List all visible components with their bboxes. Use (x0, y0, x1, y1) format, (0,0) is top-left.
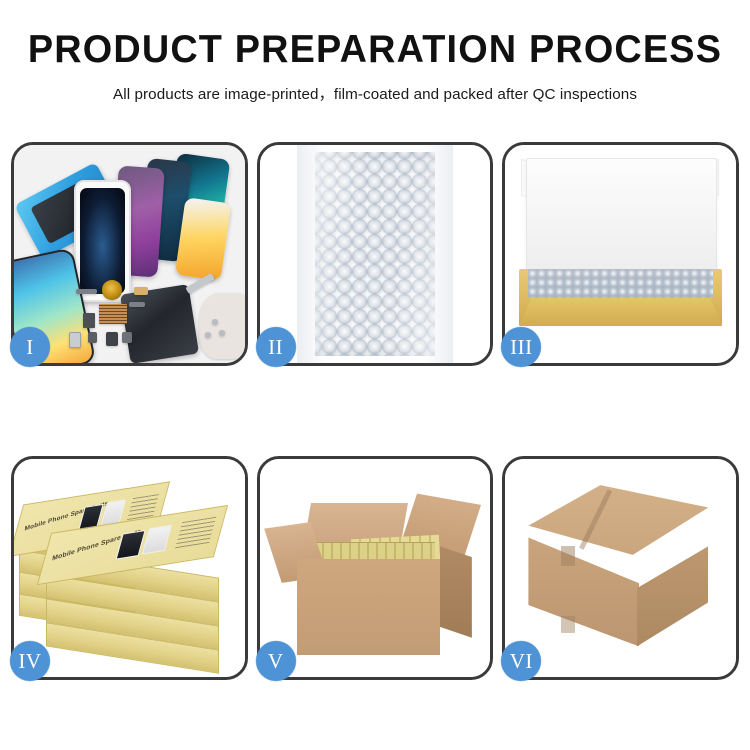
phone-back-housing (120, 284, 199, 363)
hand-holding-tool (199, 293, 245, 358)
step-6-image (505, 459, 736, 677)
page-title: PRODUCT PREPARATION PROCESS (11, 30, 739, 69)
process-step-grid: I II III (11, 142, 739, 730)
step-badge-1: I (10, 327, 50, 367)
connector-part (83, 313, 95, 328)
carton-side-panel (440, 546, 472, 638)
screw-part (219, 330, 225, 335)
process-step-1: I (11, 142, 248, 366)
bubble-wrap-photo (260, 145, 491, 363)
screw-part (212, 319, 218, 324)
box-spec-lines (175, 516, 216, 549)
step-1-image (14, 145, 245, 363)
step-4-image: Mobile Phone Spare Parts Mobile Phone Sp… (14, 459, 245, 677)
filled-carton-photo (260, 459, 491, 677)
bubble-wrap-edge-glow (297, 145, 454, 363)
kraft-box-front-panel (519, 298, 722, 326)
sim-tray-part (69, 332, 80, 347)
bubble-wrapped-contents (528, 269, 713, 297)
step-badge-5: V (256, 641, 296, 681)
camera-module-part (106, 332, 118, 345)
speaker-part (122, 332, 131, 343)
process-step-2: II (257, 142, 494, 366)
carton-front-panel (297, 559, 440, 655)
flex-cable-part (76, 289, 97, 294)
inner-box-photo (505, 145, 736, 363)
copper-coil-part (102, 280, 123, 300)
page-subtitle: All products are image-printed，film-coat… (0, 82, 750, 104)
button-part (88, 332, 97, 343)
gold-contact-part (134, 287, 148, 296)
phones-and-parts-photo (14, 145, 245, 363)
white-screen-assembly (74, 180, 131, 302)
process-step-5: V (257, 456, 494, 680)
step-3-image (505, 145, 736, 363)
carton-tape-mark (561, 546, 575, 566)
header: PRODUCT PREPARATION PROCESS All products… (0, 0, 750, 104)
step-5-image (260, 459, 491, 677)
box-lid-white (526, 158, 717, 282)
carton-tape-mark (561, 616, 575, 633)
step-badge-4: IV (10, 641, 50, 681)
box-screen-graphic (142, 524, 172, 554)
chip-grid-part (99, 304, 127, 324)
process-step-4: Mobile Phone Spare Parts Mobile Phone Sp… (11, 456, 248, 680)
process-step-3: III (502, 142, 739, 366)
process-step-6: VI (502, 456, 739, 680)
ribbon-cable-part (129, 302, 145, 307)
step-2-image (260, 145, 491, 363)
stacked-boxes-photo: Mobile Phone Spare Parts Mobile Phone Sp… (14, 459, 245, 677)
step-badge-2: II (256, 327, 296, 367)
sealed-carton-photo (505, 459, 736, 677)
